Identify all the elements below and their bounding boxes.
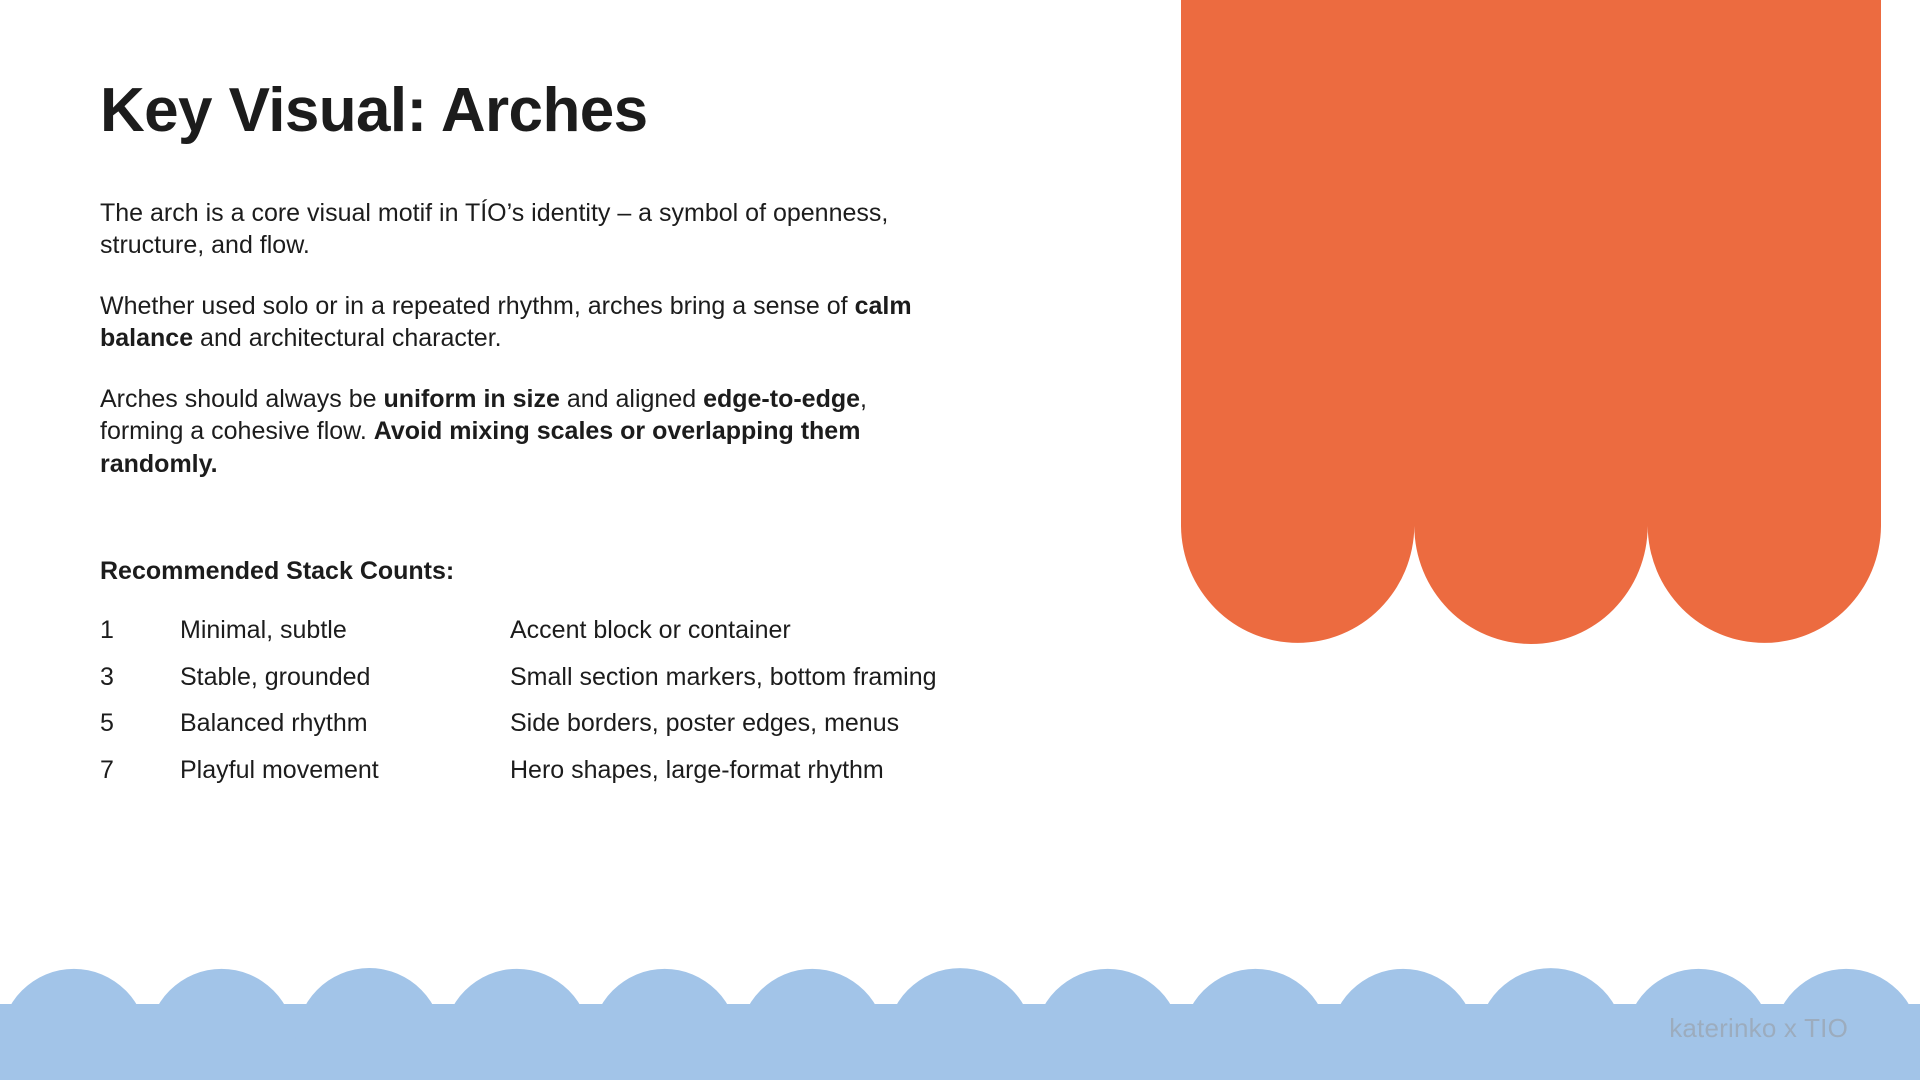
paragraph-sizing-text-1: Arches should always be xyxy=(100,385,383,413)
stack-count-feel: Playful movement xyxy=(180,744,510,791)
paragraph-sizing-emphasis-2: edge-to-edge xyxy=(703,385,860,413)
stack-count-use: Accent block or container xyxy=(510,604,1110,651)
paragraph-sizing-emphasis-1: uniform in size xyxy=(383,385,559,413)
stack-counts-heading: Recommended Stack Counts: xyxy=(100,480,1110,588)
stack-count-value: 3 xyxy=(100,651,180,698)
stack-count-value: 1 xyxy=(100,604,180,651)
paragraph-sizing-text-2: and aligned xyxy=(560,385,703,413)
footer-credit: katerinko x TIO xyxy=(1669,1013,1848,1044)
table-row: 7 Playful movement Hero shapes, large-fo… xyxy=(100,744,1110,791)
stack-count-feel: Stable, grounded xyxy=(180,651,510,698)
blue-arch-band xyxy=(0,968,1920,1080)
body-copy: The arch is a core visual motif in TÍO’s… xyxy=(100,145,920,481)
paragraph-rhythm: Whether used solo or in a repeated rhyth… xyxy=(100,290,920,355)
paragraph-sizing: Arches should always be uniform in size … xyxy=(100,383,920,481)
page-title: Key Visual: Arches xyxy=(100,0,1110,145)
table-row: 1 Minimal, subtle Accent block or contai… xyxy=(100,604,1110,651)
stack-counts-table-body: 1 Minimal, subtle Accent block or contai… xyxy=(100,604,1110,791)
stack-count-use: Small section markers, bottom framing xyxy=(510,651,1110,698)
orange-arch-block xyxy=(1181,0,1881,760)
slide-canvas: Key Visual: Arches The arch is a core vi… xyxy=(0,0,1920,1080)
paragraph-intro-text: The arch is a core visual motif in TÍO’s… xyxy=(100,199,888,260)
stack-count-use: Side borders, poster edges, menus xyxy=(510,697,1110,744)
paragraph-rhythm-text-2: and architectural character. xyxy=(193,324,502,352)
table-row: 5 Balanced rhythm Side borders, poster e… xyxy=(100,697,1110,744)
stack-count-feel: Balanced rhythm xyxy=(180,697,510,744)
stack-counts-table: 1 Minimal, subtle Accent block or contai… xyxy=(100,604,1110,791)
blue-arch-group xyxy=(0,968,1920,1080)
table-row: 3 Stable, grounded Small section markers… xyxy=(100,651,1110,698)
paragraph-rhythm-text-1: Whether used solo or in a repeated rhyth… xyxy=(100,292,855,320)
stack-count-value: 7 xyxy=(100,744,180,791)
stack-count-use: Hero shapes, large-format rhythm xyxy=(510,744,1110,791)
stack-count-value: 5 xyxy=(100,697,180,744)
stack-count-feel: Minimal, subtle xyxy=(180,604,510,651)
slide-content: Key Visual: Arches The arch is a core vi… xyxy=(100,0,1110,791)
paragraph-intro: The arch is a core visual motif in TÍO’s… xyxy=(100,197,920,262)
